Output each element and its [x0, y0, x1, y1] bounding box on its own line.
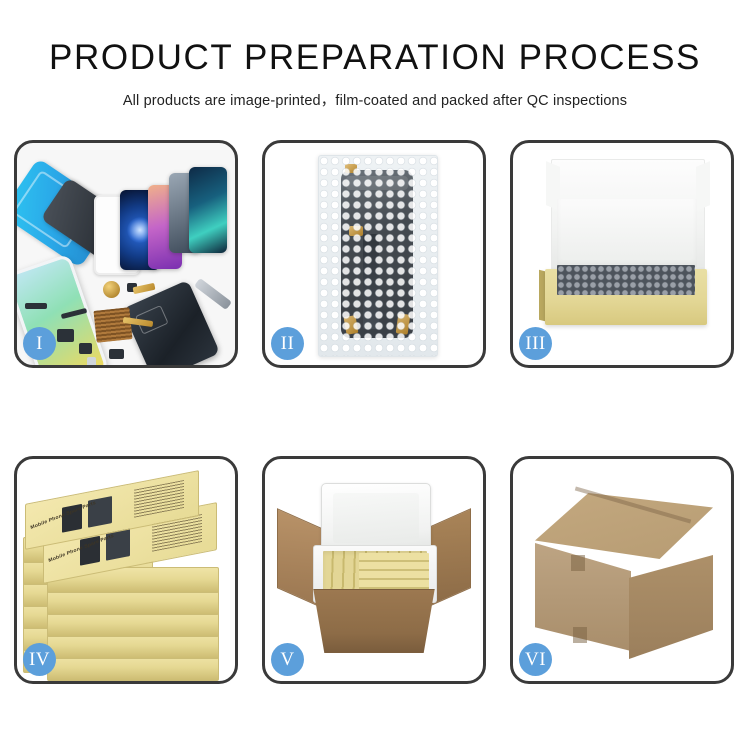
phone-screen-teal-icon — [189, 167, 227, 253]
sim-tray-icon — [87, 357, 96, 365]
step-badge-4: IV — [23, 643, 56, 676]
repair-tool-icon — [194, 278, 232, 310]
step-numeral-5: V — [280, 650, 294, 669]
circuit-board-icon — [93, 307, 132, 343]
step-panel-1: I — [14, 140, 238, 368]
styrofoam-lid-icon — [321, 483, 431, 553]
yellow-boxes-stack-icon — [359, 553, 429, 591]
page-subtitle: All products are image-printed，film-coat… — [0, 89, 750, 110]
step-badge-2: II — [271, 327, 304, 360]
header: PRODUCT PREPARATION PROCESS All products… — [0, 0, 750, 110]
step-panel-3: III — [510, 140, 734, 368]
step-badge-3: III — [519, 327, 552, 360]
step-panel-5: V — [262, 456, 486, 684]
step-numeral-1: I — [36, 334, 43, 353]
carton-body-icon — [305, 589, 443, 653]
step-panel-2: II — [262, 140, 486, 368]
step-numeral-3: III — [525, 334, 545, 353]
step-panel-6: VI — [510, 456, 734, 684]
step-badge-1: I — [23, 327, 56, 360]
component-chip-icon — [57, 329, 74, 342]
bubble-wrap-bag — [318, 155, 438, 357]
component-chip-icon — [25, 303, 47, 309]
step-numeral-6: VI — [525, 650, 546, 669]
bubble-texture — [319, 156, 437, 356]
speaker-module-icon — [103, 281, 120, 298]
process-steps-grid: I II — [14, 140, 736, 684]
component-chip-icon — [109, 349, 124, 359]
label-text-lines — [134, 480, 184, 518]
component-chip-icon — [79, 343, 92, 354]
bubble-wrapped-contents-icon — [557, 265, 695, 295]
step-numeral-2: II — [281, 334, 295, 353]
foam-sheet-icon — [557, 199, 697, 267]
step-numeral-4: IV — [29, 650, 50, 669]
carton-tape-icon — [573, 627, 587, 643]
carton-right-face-icon — [629, 555, 713, 659]
step-badge-6: VI — [519, 643, 552, 676]
step-panel-4: Mobile Phone Spare Parts Mobile Phone Sp… — [14, 456, 238, 684]
page-title: PRODUCT PREPARATION PROCESS — [0, 40, 750, 75]
product-preparation-infographic: PRODUCT PREPARATION PROCESS All products… — [0, 0, 750, 750]
step-badge-5: V — [271, 643, 304, 676]
carton-tape-icon — [571, 555, 585, 571]
